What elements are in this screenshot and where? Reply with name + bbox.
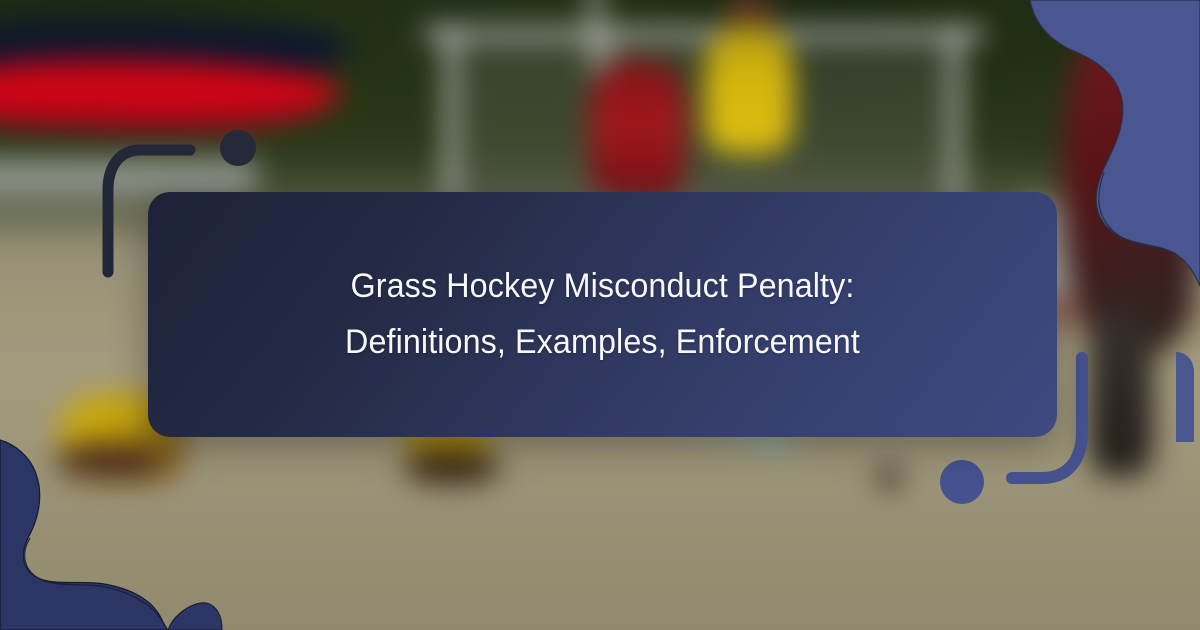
page-title: Grass Hockey Misconduct Penalty: Definit… (171, 259, 1035, 369)
title-card: Grass Hockey Misconduct Penalty: Definit… (148, 192, 1057, 437)
top-left-dot-icon (220, 130, 256, 166)
page-title-line-2: Definitions, Examples, Enforcement (209, 315, 997, 370)
hero-banner: Grass Hockey Misconduct Penalty: Definit… (0, 0, 1200, 630)
page-title-line-1: Grass Hockey Misconduct Penalty: (209, 259, 997, 314)
bottom-left-tail-blob (168, 603, 222, 630)
right-edge-tab (1176, 352, 1194, 442)
bottom-right-dot-icon (940, 460, 984, 504)
